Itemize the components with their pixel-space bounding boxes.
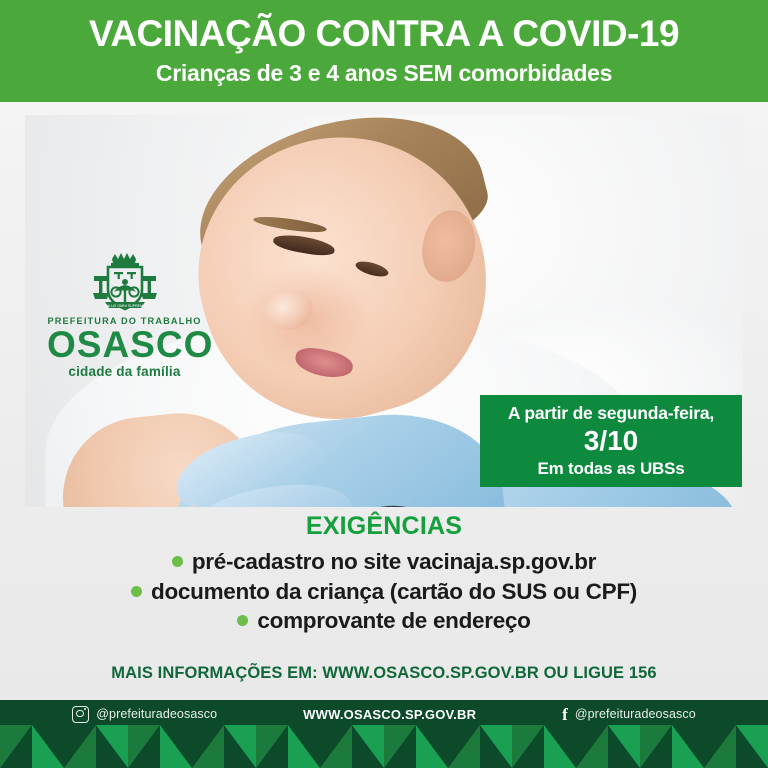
header-title: VACINAÇÃO CONTRA A COVID-19 xyxy=(89,15,679,54)
logo-tagline: cidade da família xyxy=(47,364,202,379)
requirement-item-2: documento da criança (cartão do SUS ou C… xyxy=(0,577,768,607)
facebook-group[interactable]: f @prefeituradeosasco xyxy=(562,706,696,723)
triangle-tile xyxy=(0,725,64,768)
start-date-location: Em todas as UBSs xyxy=(537,459,684,479)
requirement-item-1: pré-cadastro no site vacinaja.sp.gov.br xyxy=(0,547,768,577)
poster-footer: @prefeituradeosasco WWW.OSASCO.SP.GOV.BR… xyxy=(0,700,768,768)
triangle-tile xyxy=(256,725,320,768)
poster-header: VACINAÇÃO CONTRA A COVID-19 Crianças de … xyxy=(0,0,768,102)
osasco-city-logo: SALUS OMNI SUPREMA PREFEITURA DO TRABALH… xyxy=(47,252,202,379)
footer-triangle-pattern xyxy=(0,725,768,768)
facebook-icon[interactable]: f xyxy=(562,706,568,723)
instagram-group[interactable]: @prefeituradeosasco xyxy=(72,706,217,723)
triangle-tile xyxy=(576,725,640,768)
triangle-tile xyxy=(384,725,448,768)
svg-text:SALUS OMNI SUPREMA: SALUS OMNI SUPREMA xyxy=(104,304,146,308)
triangle-tile xyxy=(320,725,384,768)
requirement-text-1: pré-cadastro no site vacinaja.sp.gov.br xyxy=(192,549,596,574)
bullet-icon xyxy=(172,556,183,567)
requirement-text-2: documento da criança (cartão do SUS ou C… xyxy=(151,579,637,604)
instagram-icon[interactable] xyxy=(72,706,89,723)
vaccination-campaign-poster: VACINAÇÃO CONTRA A COVID-19 Crianças de … xyxy=(0,0,768,768)
triangle-tile xyxy=(640,725,704,768)
requirement-text-3: comprovante de endereço xyxy=(257,608,530,633)
triangle-tile xyxy=(64,725,128,768)
footer-contact-row: @prefeituradeosasco WWW.OSASCO.SP.GOV.BR… xyxy=(0,702,768,726)
bullet-icon xyxy=(237,615,248,626)
requirements-section: EXIGÊNCIAS pré-cadastro no site vacinaja… xyxy=(0,512,768,636)
requirements-title: EXIGÊNCIAS xyxy=(0,512,768,541)
header-subtitle: Crianças de 3 e 4 anos SEM comorbidades xyxy=(156,60,612,87)
footer-website[interactable]: WWW.OSASCO.SP.GOV.BR xyxy=(303,707,476,722)
start-date-value: 3/10 xyxy=(584,425,639,457)
triangle-tile xyxy=(128,725,192,768)
start-date-box: A partir de segunda-feira, 3/10 Em todas… xyxy=(480,395,742,487)
facebook-handle: @prefeituradeosasco xyxy=(575,707,696,721)
bullet-icon xyxy=(131,586,142,597)
triangle-tile xyxy=(512,725,576,768)
triangle-tile xyxy=(448,725,512,768)
coat-of-arms-icon: SALUS OMNI SUPREMA xyxy=(86,252,164,314)
instagram-handle: @prefeituradeosasco xyxy=(96,707,217,721)
start-date-intro: A partir de segunda-feira, xyxy=(508,403,714,424)
triangle-tile xyxy=(704,725,768,768)
triangle-tile xyxy=(192,725,256,768)
more-info-line: MAIS INFORMAÇÕES EM: WWW.OSASCO.SP.GOV.B… xyxy=(0,664,768,683)
logo-city-name: OSASCO xyxy=(47,327,202,363)
requirement-item-3: comprovante de endereço xyxy=(0,606,768,636)
